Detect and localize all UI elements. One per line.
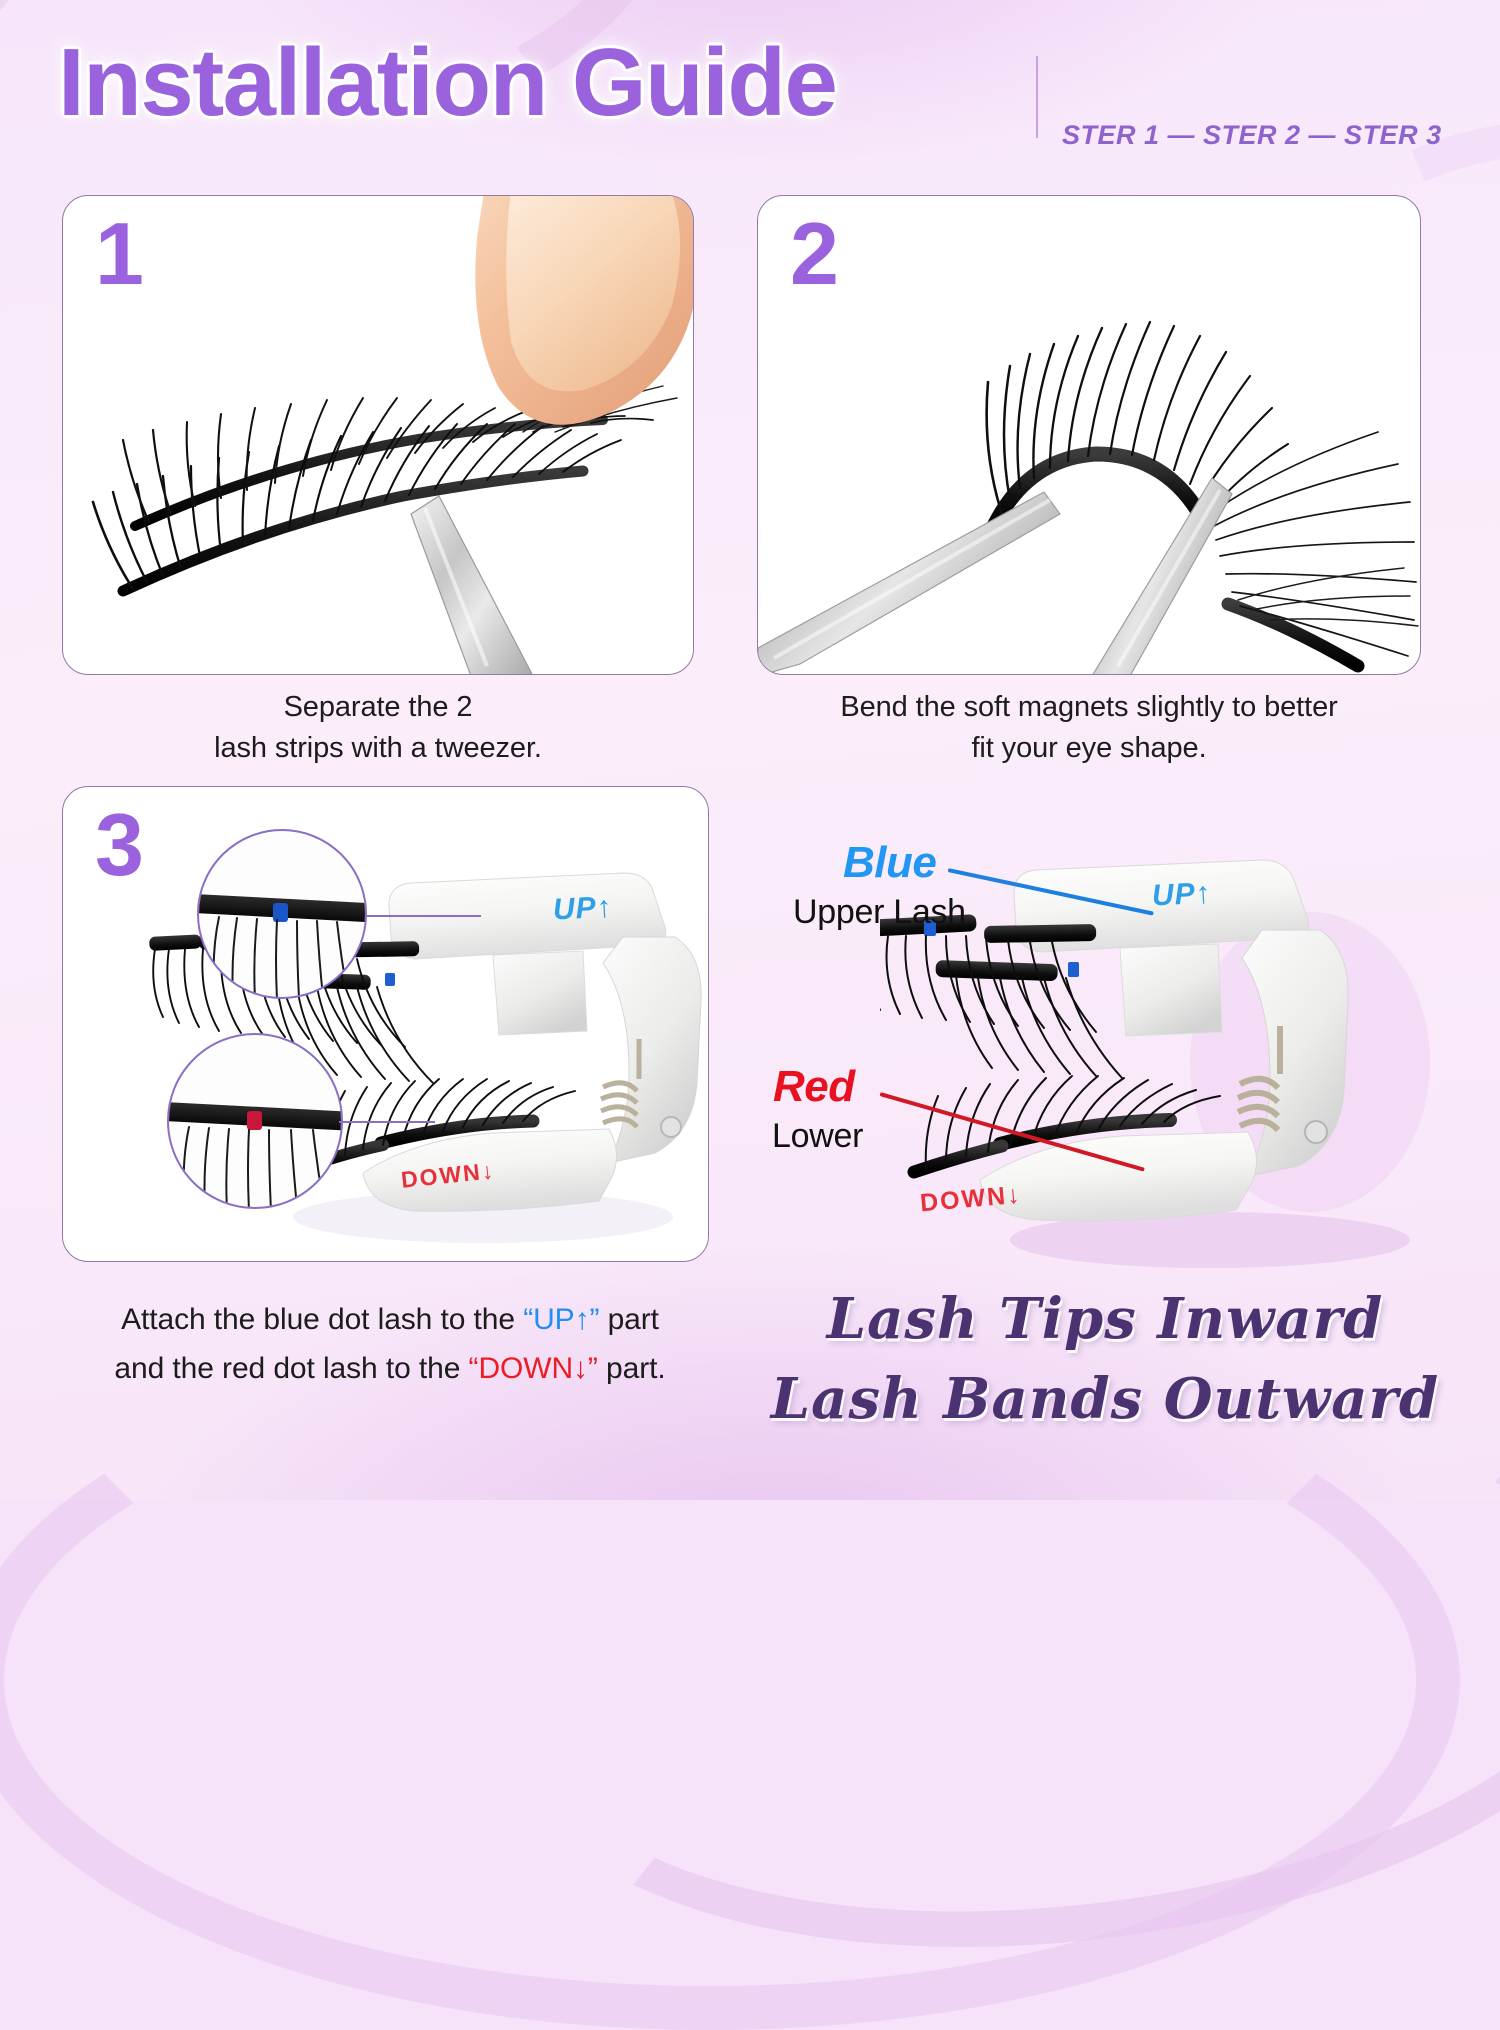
caption-up-quote-open: “ bbox=[523, 1303, 533, 1336]
caption-down-label: DOWN↓ bbox=[478, 1352, 587, 1385]
applicator-illustration bbox=[63, 787, 709, 1262]
header-steps-label: STER 1 — STER 2 — STER 3 bbox=[1062, 120, 1442, 151]
step-1-caption-line-1: Separate the 2 bbox=[62, 687, 694, 728]
step-2-card: 2 bbox=[757, 195, 1421, 675]
inset-blue-dot-circle bbox=[197, 829, 367, 999]
step-1-caption: Separate the 2 lash strips with a tweeze… bbox=[62, 687, 694, 769]
legend-blue-subtitle: Upper Lash bbox=[793, 893, 966, 932]
thumb-illustration bbox=[455, 195, 694, 448]
applicator-up-label: UP↑ bbox=[552, 890, 613, 927]
step-3-caption-line-1: Attach the blue dot lash to the “UP↑” pa… bbox=[50, 1296, 730, 1345]
inset-lashes-blue bbox=[199, 831, 367, 999]
footer-script-line-2: Lash Bands Outward bbox=[735, 1366, 1475, 1432]
legend-red-subtitle: Lower bbox=[772, 1117, 863, 1156]
lash-strip-illustration-2 bbox=[758, 196, 1421, 675]
caption-down-quote-close: ” bbox=[588, 1352, 598, 1385]
legend-up-label: UP↑ bbox=[1151, 876, 1212, 913]
step-2-photo bbox=[758, 196, 1420, 674]
header: Installation Guide STER 1 — STER 2 — STE… bbox=[0, 34, 1500, 154]
page-title: Installation Guide bbox=[58, 28, 836, 138]
step-1-number: 1 bbox=[95, 210, 144, 298]
step-2-caption-line-1: Bend the soft magnets slightly to better bbox=[757, 687, 1421, 728]
step-2-caption-line-2: fit your eye shape. bbox=[757, 728, 1421, 769]
inset-red-dot-circle bbox=[167, 1033, 343, 1209]
caption-text-part-4: part. bbox=[598, 1352, 666, 1385]
inset-lashes-red bbox=[169, 1035, 343, 1209]
caption-down-quote-open: “ bbox=[469, 1352, 479, 1385]
step-3-photo: UP↑ DOWN↓ bbox=[63, 787, 708, 1261]
step-1-card: 1 bbox=[62, 195, 694, 675]
inset-leader-red bbox=[339, 1121, 435, 1123]
caption-up-label: UP↑ bbox=[533, 1303, 589, 1336]
legend-red-title: Red bbox=[773, 1062, 855, 1112]
step-3-number: 3 bbox=[95, 801, 144, 889]
caption-text-part-2: part bbox=[599, 1303, 659, 1336]
caption-text-part-1: Attach the blue dot lash to the bbox=[121, 1303, 523, 1336]
step-1-photo bbox=[63, 196, 693, 674]
step-2-number: 2 bbox=[790, 210, 839, 298]
footer-script-line-1: Lash Tips Inward bbox=[735, 1286, 1475, 1352]
caption-text-part-3: and the red dot lash to the bbox=[114, 1352, 468, 1385]
step-3-card: UP↑ DOWN↓ bbox=[62, 786, 709, 1262]
inset-leader-blue bbox=[365, 915, 481, 917]
step-3-caption-line-2: and the red dot lash to the “DOWN↓” part… bbox=[50, 1345, 730, 1394]
caption-up-quote-close: ” bbox=[589, 1303, 599, 1336]
legend-blue-title: Blue bbox=[843, 838, 936, 888]
title-divider bbox=[1036, 56, 1038, 138]
step-2-caption: Bend the soft magnets slightly to better… bbox=[757, 687, 1421, 769]
step-1-caption-line-2: lash strips with a tweezer. bbox=[62, 728, 694, 769]
step-3-caption: Attach the blue dot lash to the “UP↑” pa… bbox=[50, 1296, 730, 1393]
